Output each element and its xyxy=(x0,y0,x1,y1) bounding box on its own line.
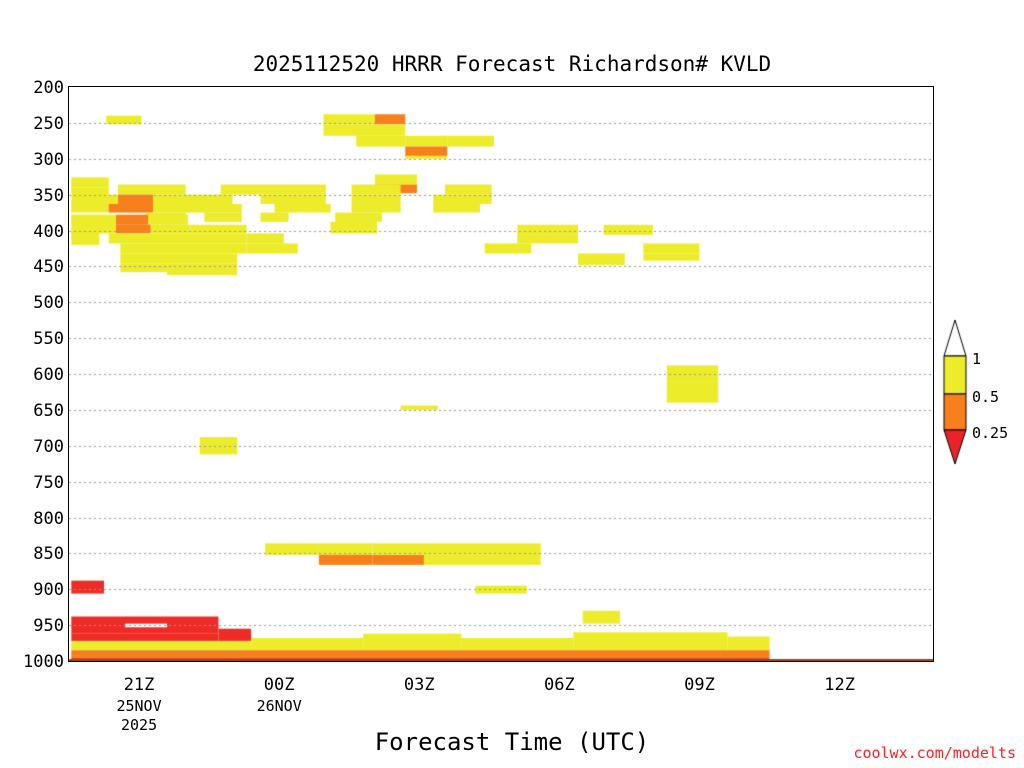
x-tick-label: 21Z xyxy=(99,675,179,695)
chart-title: 2025112520 HRRR Forecast Richardson# KVL… xyxy=(0,52,1024,76)
y-tick-label: 750 xyxy=(4,473,64,493)
y-tick-label: 950 xyxy=(4,616,64,636)
x-tick-label: 00Z xyxy=(239,675,319,695)
y-tick-label: 400 xyxy=(4,222,64,242)
y-tick-label: 250 xyxy=(4,114,64,134)
credit-text: coolwx.com/modelts xyxy=(853,744,1016,762)
x-tick-label: 12Z xyxy=(800,675,880,695)
legend-label: 1 xyxy=(972,350,981,368)
y-tick-label: 700 xyxy=(4,437,64,457)
heatmap-canvas xyxy=(69,87,933,661)
y-tick-label: 600 xyxy=(4,365,64,385)
x-tick-label: 09Z xyxy=(659,675,739,695)
x-tick-label: 06Z xyxy=(519,675,599,695)
y-tick-label: 800 xyxy=(4,509,64,529)
x-tick-sublabel: 26NOV xyxy=(229,697,329,716)
legend-label: 0.25 xyxy=(972,424,1008,442)
y-tick-label: 350 xyxy=(4,186,64,206)
y-tick-label: 650 xyxy=(4,401,64,421)
chart-root: 2025112520 HRRR Forecast Richardson# KVL… xyxy=(0,0,1024,768)
y-tick-label: 1000 xyxy=(4,652,64,672)
y-tick-label: 450 xyxy=(4,257,64,277)
y-tick-label: 500 xyxy=(4,293,64,313)
y-tick-label: 850 xyxy=(4,544,64,564)
legend-label: 0.5 xyxy=(972,388,999,406)
heatmap-plot-area xyxy=(68,86,934,662)
y-axis-ticks: 2002503003504004505005506006507007508008… xyxy=(0,0,64,768)
y-tick-label: 300 xyxy=(4,150,64,170)
x-tick-label: 03Z xyxy=(379,675,459,695)
legend-labels: 10.50.25 xyxy=(966,310,1022,470)
y-tick-label: 900 xyxy=(4,580,64,600)
y-tick-label: 550 xyxy=(4,329,64,349)
y-tick-label: 200 xyxy=(4,78,64,98)
